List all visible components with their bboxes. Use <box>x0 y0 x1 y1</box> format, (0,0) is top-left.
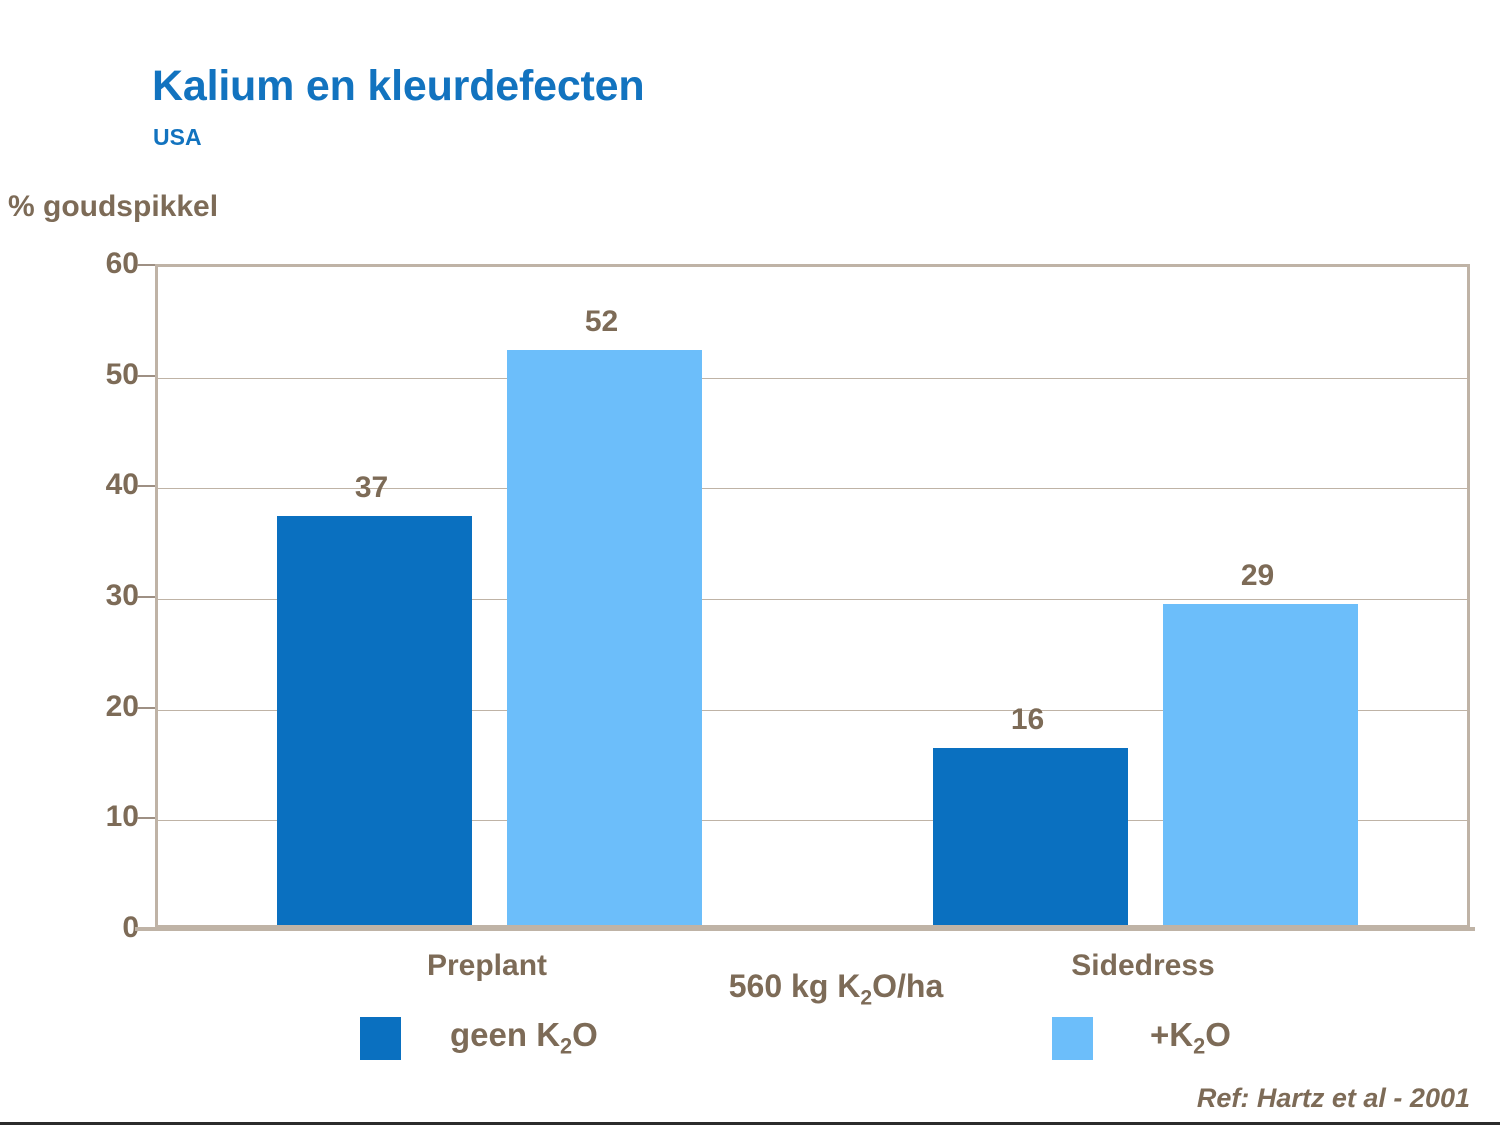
page-title: Kalium en kleurdefecten <box>152 62 644 111</box>
x-axis-line <box>135 927 1475 931</box>
bar-value-label-sidedress-series1: 16 <box>1011 703 1044 737</box>
legend-label-plus-k2o: +K2O <box>1150 1016 1231 1060</box>
legend-swatch-icon-dark <box>360 1017 401 1060</box>
bottom-divider <box>0 1122 1500 1125</box>
plot-area <box>155 264 1470 928</box>
bar-preplant-series2[interactable] <box>507 350 702 925</box>
slide-canvas: Kalium en kleurdefecten USA % goudspikke… <box>0 0 1500 1129</box>
legend-label-geen-k2o: geen K2O <box>450 1016 598 1060</box>
y-tick-label-30: 30 <box>79 579 139 613</box>
bar-value-label-sidedress-series2: 29 <box>1241 559 1274 593</box>
reference-note: Ref: Hartz et al - 2001 <box>1197 1083 1470 1114</box>
y-axis-label: % goudspikkel <box>8 190 218 224</box>
gridline-50 <box>158 378 1467 379</box>
bar-value-label-preplant-series1: 37 <box>355 471 388 505</box>
category-label-sidedress: Sidedress <box>1071 949 1214 983</box>
y-tick-label-60: 60 <box>79 247 139 281</box>
legend-swatch-icon-light <box>1052 1017 1093 1060</box>
legend-item-geen-k2o[interactable]: geen K2O <box>360 1015 598 1061</box>
bar-sidedress-series1[interactable] <box>933 748 1128 925</box>
x-axis-title: 560 kg K2O/ha <box>729 968 944 1010</box>
bar-value-label-preplant-series2: 52 <box>585 305 618 339</box>
y-tick-label-20: 20 <box>79 690 139 724</box>
y-tick-label-0: 0 <box>79 911 139 945</box>
y-tick-label-10: 10 <box>79 800 139 834</box>
category-label-preplant: Preplant <box>427 949 547 983</box>
legend-item-plus-k2o[interactable]: +K2O <box>1052 1015 1231 1061</box>
bar-sidedress-series2[interactable] <box>1163 604 1358 925</box>
y-tick-label-40: 40 <box>79 468 139 502</box>
y-tick-label-50: 50 <box>79 358 139 392</box>
page-subtitle: USA <box>153 124 202 151</box>
bar-preplant-series1[interactable] <box>277 516 472 925</box>
